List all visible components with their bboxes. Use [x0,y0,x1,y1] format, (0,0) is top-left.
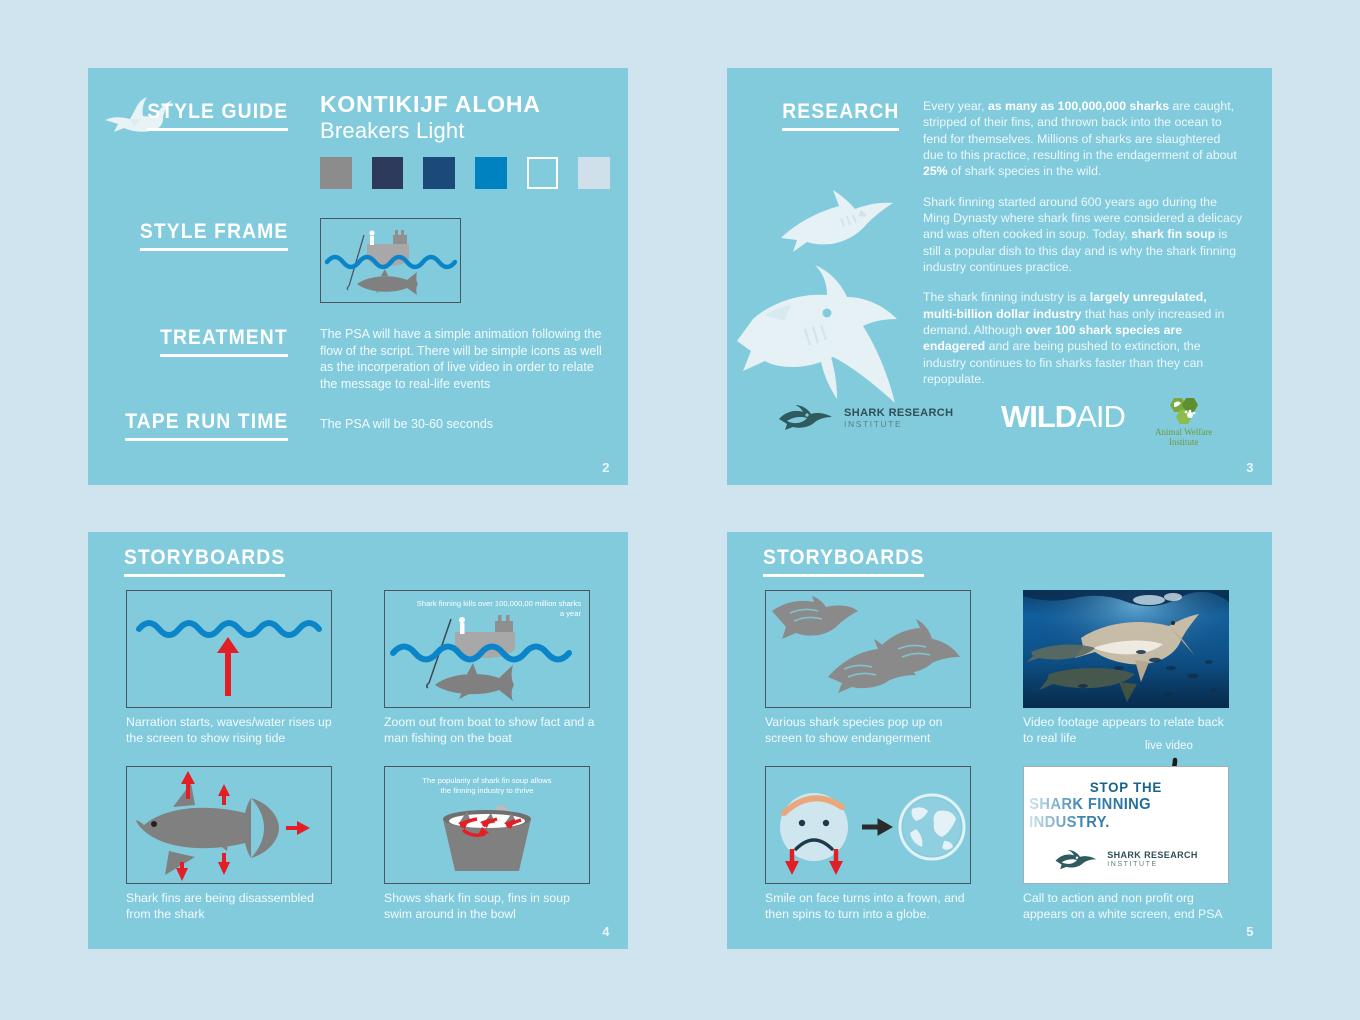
label-style-guide: STYLE GUIDE [147,100,288,131]
page-number: 2 [602,460,610,475]
research-paragraph-1: Every year, as many as 100,000,000 shark… [923,98,1243,180]
storyboard-cell-rising-tide: Narration starts, waves/water rises up t… [126,590,338,746]
font-secondary-name: Breakers Light [320,118,610,143]
storyboard-cell-fins-disassembled: Shark fins are being disassembled from t… [126,766,338,922]
page-number: 5 [1246,924,1254,939]
storyboard-frame: Shark finning kills over 100,000,00 mill… [384,590,590,708]
storyboard-cell-shark-fin-soup: The popularity of shark fin soup allows … [384,766,596,922]
logo-shark-research-institute: SHARK RESEARCH INSTITUTE [777,403,954,433]
storyboard-caption: Various shark species pop up on screen t… [765,715,977,746]
video-footage-photo [1023,590,1229,708]
logo-wildaid: WILDAID [1001,399,1125,435]
storyboard-caption: Zoom out from boat to show fact and a ma… [384,715,596,746]
wildaid-wild: WILD [1001,399,1076,434]
storyboard-frame: The popularity of shark fin soup allows … [384,766,590,884]
research-text-column: Every year, as many as 100,000,000 shark… [923,98,1243,402]
sri-line1: SHARK RESEARCH [844,408,954,419]
label-storyboards: STORYBOARDS [124,546,285,577]
storyboard-cell-video-footage: Video footage appears to relate back to … [1023,590,1235,746]
storyboard-caption: Shows shark fin soup, fins in soup swim … [384,891,596,922]
swatch-blue [475,157,507,189]
wildaid-aid: AID [1076,399,1125,434]
style-frame-illustration [320,218,461,303]
swatch-pale [578,157,610,189]
label-tape-run-time: TAPE RUN TIME [125,410,288,441]
logo-animal-welfare-institute: Animal Welfare Institute [1155,395,1212,448]
board-research: RESEARCH Every year, as many as 100,000,… [727,68,1272,485]
awi-line2: Institute [1155,437,1212,447]
label-research: RESEARCH [782,100,899,131]
label-treatment: TREATMENT [160,326,288,357]
awi-line1: Animal Welfare [1155,427,1212,437]
board-storyboards-page4: STORYBOARDS Narration starts, waves/wate… [88,532,628,949]
board-style-guide: STYLE GUIDE KONTIKIJF ALOHA Breakers Lig… [88,68,628,485]
color-swatch-row [320,157,610,189]
storyboard-cell-call-to-action: STOP THE SHARK FINNING INDUSTRY. SHARK R… [1023,766,1235,922]
cta-logo-line1: SHARK RESEARCH [1107,851,1198,860]
storyboard-cell-shark-species: Various shark species pop up on screen t… [765,590,977,746]
cta-logo-line2: INSTITUTE [1107,861,1198,868]
swatch-gray [320,157,352,189]
live-video-label: live video [1145,740,1193,752]
swatch-white-outline [527,157,559,189]
research-paragraph-2: Shark finning started around 600 years a… [923,194,1243,276]
font-primary-name: KONTIKIJF ALOHA [320,92,610,116]
cta-sri-logo: SHARK RESEARCH INSTITUTE [1054,848,1198,872]
label-style-frame: STYLE FRAME [140,220,288,251]
storyboard-caption: Shark fins are being disassembled from t… [126,891,338,922]
shark-small-silhouette-icon [769,166,905,266]
storyboard-frame [126,590,332,708]
cta-line2: SHARK FINNING INDUSTRY. [1029,796,1223,832]
label-storyboards: STORYBOARDS [763,546,924,577]
swatch-navy-dark [372,157,404,189]
storyboard-caption: Narration starts, waves/water rises up t… [126,715,338,746]
sri-shark-mark-icon [777,403,837,433]
awi-mark-icon [1162,395,1206,425]
research-paragraph-3: The shark finning industry is a largely … [923,289,1243,387]
storyboard-frame [126,766,332,884]
treatment-body: The PSA will have a simple animation fol… [320,326,608,392]
page-number: 4 [602,924,610,939]
sri-line2: INSTITUTE [844,420,954,429]
storyboard-cell-boat-fact: Shark finning kills over 100,000,00 mill… [384,590,596,746]
storyboard-caption: Call to action and non profit org appear… [1023,891,1235,922]
tape-run-time-body: The PSA will be 30-60 seconds [320,416,608,433]
storyboard-cell-frown-globe: Smile on face turns into a frown, and th… [765,766,977,922]
storyboard-caption: Video footage appears to relate back to … [1023,715,1235,746]
board-storyboards-page5: STORYBOARDS Vari [727,532,1272,949]
cta-line1: STOP THE [1090,779,1162,795]
swatch-navy [423,157,455,189]
storyboard-caption: Smile on face turns into a frown, and th… [765,891,977,922]
storyboard-frame [765,590,971,708]
page-number: 3 [1246,460,1254,475]
storyboard-frame [765,766,971,884]
partner-logos: SHARK RESEARCH INSTITUTE WILDAID Animal … [767,397,1237,453]
cta-card: STOP THE SHARK FINNING INDUSTRY. SHARK R… [1023,766,1229,884]
sri-shark-mark-icon [1054,848,1100,872]
